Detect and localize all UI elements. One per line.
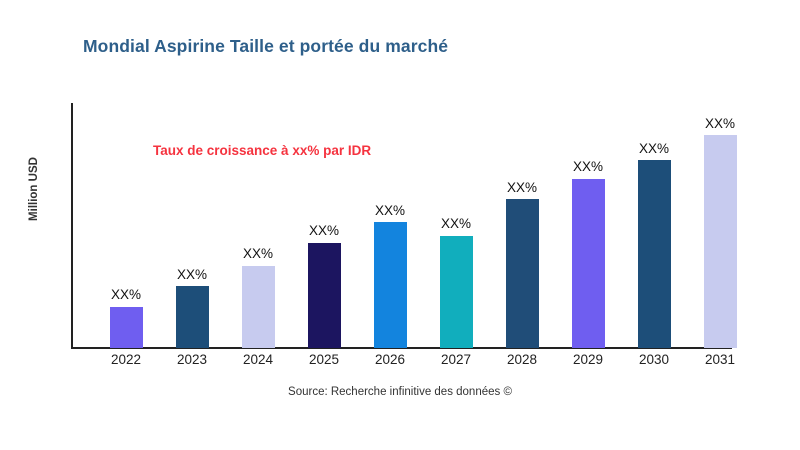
bar-value-label: XX% [639,142,669,156]
bar-chart-figure: Mondial Aspirine Taille et portée du mar… [0,0,800,450]
bar-2022[interactable] [110,307,143,348]
x-tick-2030: 2030 [619,352,690,367]
x-tick-2025: 2025 [289,352,360,367]
bar-2025[interactable] [308,243,341,348]
x-tick-2029: 2029 [553,352,624,367]
bar-group-2024[interactable]: XX% [223,247,294,348]
x-tick-2022: 2022 [91,352,162,367]
x-axis-tick-labels: 2022202320242025202620272028202920302031 [0,352,800,378]
bar-2023[interactable] [176,286,209,348]
bar-value-label: XX% [243,247,273,261]
bar-2024[interactable] [242,266,275,348]
bar-group-2027[interactable]: XX% [421,217,492,348]
bar-group-2029[interactable]: XX% [553,160,624,348]
bar-value-label: XX% [705,117,735,131]
bar-2026[interactable] [374,222,407,348]
bars-layer: XX%XX%XX%XX%XX%XX%XX%XX%XX%XX% [0,0,800,450]
bar-2030[interactable] [638,160,671,348]
bar-group-2022[interactable]: XX% [91,288,162,348]
bar-group-2023[interactable]: XX% [157,268,228,348]
bar-group-2026[interactable]: XX% [355,204,426,348]
x-tick-2027: 2027 [421,352,492,367]
x-tick-2024: 2024 [223,352,294,367]
x-tick-2031: 2031 [685,352,756,367]
bar-2029[interactable] [572,179,605,348]
x-tick-2023: 2023 [157,352,228,367]
bar-value-label: XX% [441,217,471,231]
x-tick-2026: 2026 [355,352,426,367]
bar-value-label: XX% [177,268,207,282]
bar-value-label: XX% [111,288,141,302]
bar-group-2025[interactable]: XX% [289,224,360,348]
bar-group-2031[interactable]: XX% [685,117,756,348]
source-note: Source: Recherche infinitive des données… [0,386,800,398]
bar-2028[interactable] [506,199,539,348]
bar-2031[interactable] [704,135,737,348]
bar-value-label: XX% [507,181,537,195]
bar-value-label: XX% [375,204,405,218]
bar-2027[interactable] [440,236,473,348]
bar-group-2030[interactable]: XX% [619,142,690,348]
bar-value-label: XX% [309,224,339,238]
bar-value-label: XX% [573,160,603,174]
x-tick-2028: 2028 [487,352,558,367]
bar-group-2028[interactable]: XX% [487,181,558,348]
